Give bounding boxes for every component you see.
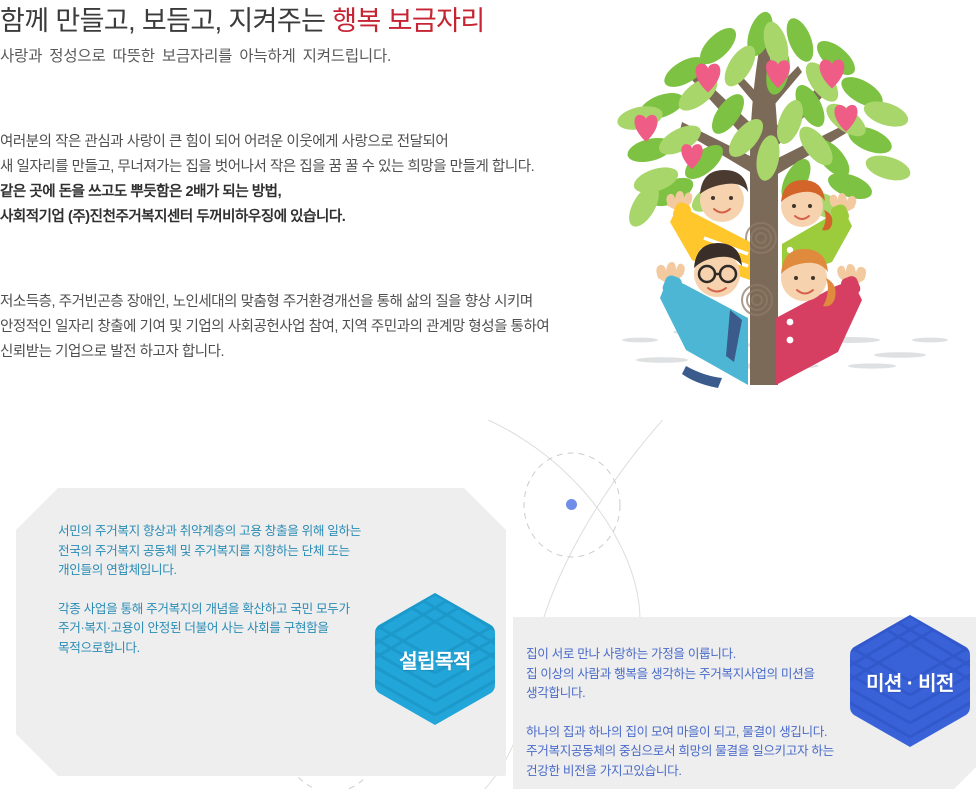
family-tree-illustration: [600, 10, 976, 390]
intro-two-line-1: 안정적인 일자리 창출에 기여 및 기업의 사회공헌사업 참여, 지역 주민과의…: [0, 315, 620, 340]
mission-b0-line-1: 집 이상의 사람과 행복을 생각하는 주거복지사업의 미션을: [526, 665, 834, 685]
mission-b1-line-2: 건강한 비전을 가지고있습니다.: [526, 762, 834, 782]
page-title-prefix: 함께 만들고, 보듬고, 지켜주는: [0, 6, 332, 36]
mission-spacer: [526, 704, 834, 723]
purpose-panel-text: 서민의 주거복지 향상과 취약계층의 고용 창출을 위해 일하는전국의 주거복지…: [58, 522, 361, 658]
page-root: 함께 만들고, 보듬고, 지켜주는 행복 보금자리 사랑과 정성으로 따뜻한 보…: [0, 0, 976, 789]
mission-b1-line-0: 하나의 집과 하나의 집이 모여 마을이 되고, 물결이 생깁니다.: [526, 723, 834, 743]
purpose-b0-line-1: 전국의 주거복지 공동체 및 주거복지를 지향하는 단체 또는: [58, 542, 361, 562]
purpose-b0-line-2: 개인들의 연합체입니다.: [58, 561, 361, 581]
mission-hex-label: 미션 · 비전: [866, 667, 954, 696]
mission-b0-line-2: 생각합니다.: [526, 684, 834, 704]
intro-one-line-1: 새 일자리를 만들고, 무너져가는 집을 벗어나서 작은 집을 꿈 꿀 수 있는…: [0, 155, 620, 180]
purpose-b1-line-0: 각종 사업을 통해 주거복지의 개념을 확산하고 국민 모두가: [58, 600, 361, 620]
page-title: 함께 만들고, 보듬고, 지켜주는 행복 보금자리: [0, 0, 620, 38]
intro-paragraph-two: 저소득층, 주거빈곤층 장애인, 노인세대의 맞춤형 주거환경개선을 통해 삶의…: [0, 290, 620, 365]
mission-panel-text: 집이 서로 만나 사랑하는 가정을 이룹니다.집 이상의 사람과 행복을 생각하…: [526, 645, 834, 781]
purpose-b1-line-1: 주거·복지·고용이 안정된 더불어 사는 사회를 구현함을: [58, 619, 361, 639]
intro-one-line-2: 같은 곳에 돈을 쓰고도 뿌듯함은 2배가 되는 방법,: [0, 180, 620, 205]
purpose-spacer: [58, 581, 361, 600]
mission-b1-line-1: 주거복지공동체의 중심으로서 희망의 물결을 일으키고자 하는: [526, 742, 834, 762]
mission-b0-line-0: 집이 서로 만나 사랑하는 가정을 이룹니다.: [526, 645, 834, 665]
intro-two-line-2: 신뢰받는 기업으로 발전 하고자 합니다.: [0, 340, 620, 365]
purpose-hex-badge[interactable]: 설립목적: [373, 591, 497, 727]
intro-section: 함께 만들고, 보듬고, 지켜주는 행복 보금자리 사랑과 정성으로 따뜻한 보…: [0, 0, 620, 68]
page-subtitle: 사랑과 정성으로 따뜻한 보금자리를 아늑하게 지켜드립니다.: [0, 46, 620, 68]
intro-one-line-0: 여러분의 작은 관심과 사랑이 큰 힘이 되어 어려운 이웃에게 사랑으로 전달…: [0, 130, 620, 155]
mission-hex-badge[interactable]: 미션 · 비전: [848, 613, 972, 749]
figure-blue-man: [656, 243, 748, 388]
page-title-accent: 행복 보금자리: [332, 6, 484, 36]
intro-two-line-0: 저소득층, 주거빈곤층 장애인, 노인세대의 맞춤형 주거환경개선을 통해 삶의…: [0, 290, 620, 315]
intro-one-line-3: 사회적기업 (주)진천주거복지센터 두꺼비하우징에 있습니다.: [0, 205, 620, 230]
purpose-hex-label: 설립목적: [399, 645, 471, 674]
purpose-b1-line-2: 목적으로합니다.: [58, 639, 361, 659]
intro-paragraph-one: 여러분의 작은 관심과 사랑이 큰 힘이 되어 어려운 이웃에게 사랑으로 전달…: [0, 130, 620, 230]
purpose-b0-line-0: 서민의 주거복지 향상과 취약계층의 고용 창출을 위해 일하는: [58, 522, 361, 542]
orbit-dot-upper: [566, 499, 577, 510]
vision-diagram: 서민의 주거복지 향상과 취약계층의 고용 창출을 위해 일하는전국의 주거복지…: [0, 420, 976, 789]
